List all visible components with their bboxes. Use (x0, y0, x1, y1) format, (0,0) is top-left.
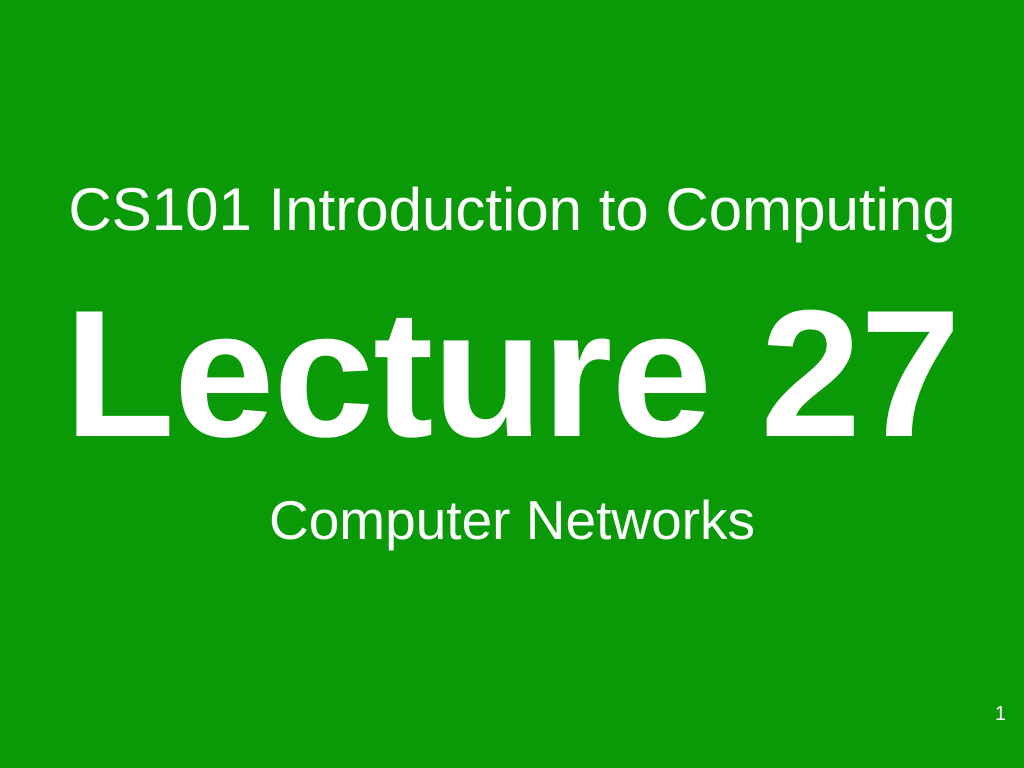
slide-number: 1 (0, 702, 1006, 726)
lecture-topic: Computer Networks (0, 489, 1024, 552)
course-title: CS101 Introduction to Computing (0, 176, 1024, 244)
lecture-heading: Lecture 27 (0, 279, 1024, 469)
title-slide: CS101 Introduction to Computing Lecture … (0, 0, 1024, 768)
